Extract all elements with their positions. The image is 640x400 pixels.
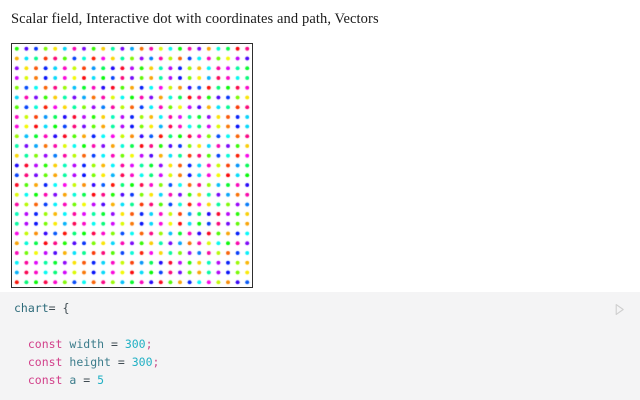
code-token-kw: const bbox=[28, 373, 63, 387]
code-token-num: 300 bbox=[125, 337, 146, 351]
code-token-op: = bbox=[104, 337, 125, 351]
code-token-cell: chart bbox=[14, 301, 49, 315]
scalar-field-plot[interactable] bbox=[11, 43, 253, 288]
code-line: const a = 5 bbox=[14, 371, 159, 389]
code-token-op: = bbox=[76, 373, 97, 387]
play-triangle-icon bbox=[612, 302, 627, 317]
code-token-semi: ; bbox=[153, 355, 160, 369]
code-block[interactable]: chart= { const width = 300; const height… bbox=[14, 299, 159, 389]
run-cell-button[interactable] bbox=[610, 300, 628, 318]
code-line: const width = 300; bbox=[14, 335, 159, 353]
code-token-num: 300 bbox=[132, 355, 153, 369]
code-token-num: 5 bbox=[97, 373, 104, 387]
code-token-semi: ; bbox=[146, 337, 153, 351]
code-token-plain bbox=[14, 355, 28, 369]
page-title: Scalar field, Interactive dot with coord… bbox=[11, 10, 379, 28]
code-token-punct: = { bbox=[49, 301, 70, 315]
code-token-kw: const bbox=[28, 337, 63, 351]
code-token-kw: const bbox=[28, 355, 63, 369]
code-token-plain bbox=[14, 337, 28, 351]
code-token-var: height bbox=[69, 355, 111, 369]
code-line bbox=[14, 317, 159, 335]
code-line: const height = 300; bbox=[14, 353, 159, 371]
code-token-var: width bbox=[69, 337, 104, 351]
scalar-field-canvas[interactable] bbox=[12, 44, 252, 287]
code-line: chart= { bbox=[14, 299, 159, 317]
code-token-plain bbox=[14, 373, 28, 387]
chart-code-cell: chart= { const width = 300; const height… bbox=[0, 292, 640, 400]
code-token-op: = bbox=[111, 355, 132, 369]
figure-container bbox=[11, 43, 253, 288]
